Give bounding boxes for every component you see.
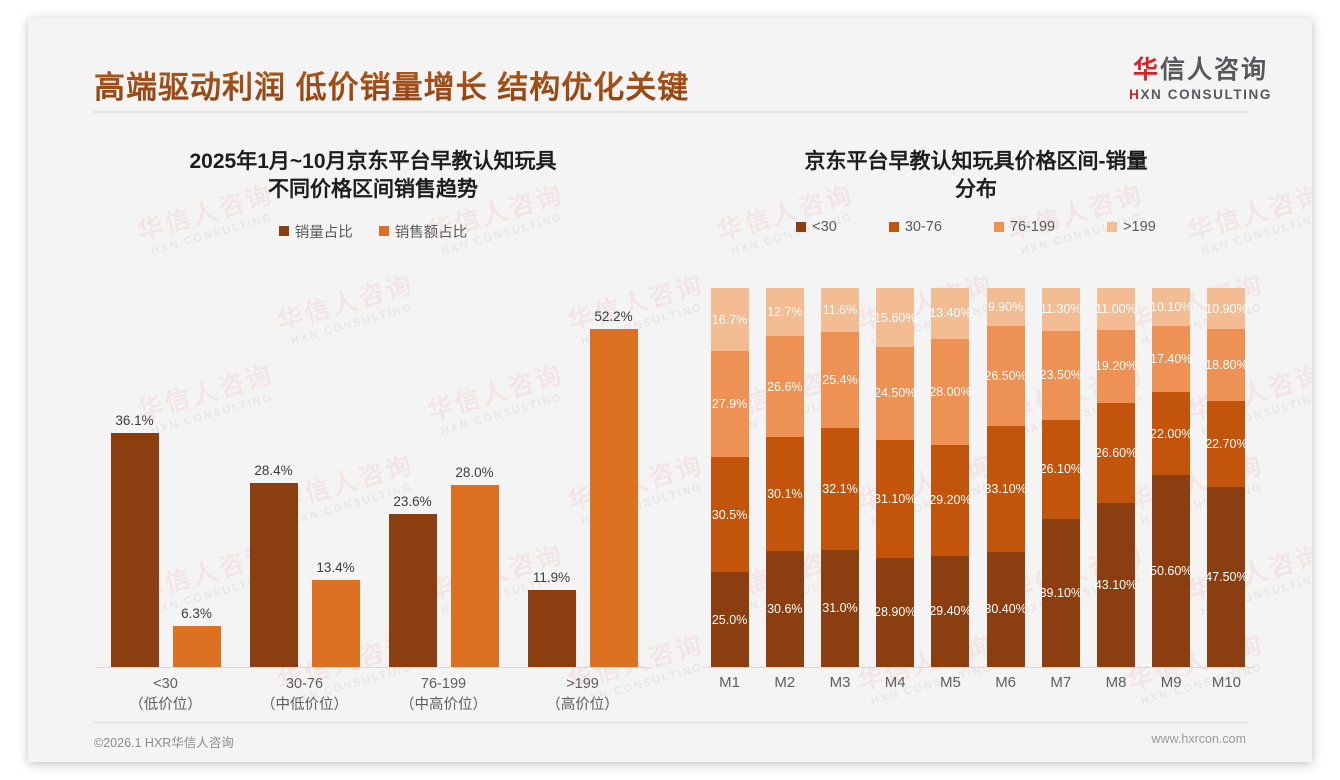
- chart-panel-sales-trend: 2025年1月~10月京东平台早教认知玩具 不同价格区间销售趋势 销量占比销售额…: [68, 126, 678, 704]
- stacked-bar[interactable]: 16.7%27.9%30.5%25.0%: [711, 288, 749, 667]
- chart-legend-volume-distribution: <3030-7676-199>199: [680, 219, 1272, 235]
- logo-chinese-first-char: 华: [1133, 56, 1160, 84]
- stack-segment-label: 9.90%: [988, 300, 1023, 314]
- plot-area-sales-trend: 36.1%6.3%28.4%13.4%23.6%28.0%11.9%52.2%: [96, 278, 652, 668]
- stack-segment[interactable]: 39.10%: [1042, 519, 1080, 667]
- page-title: 高端驱动利润 低价销量增长 结构优化关键: [94, 62, 689, 107]
- stacked-bar[interactable]: 15.60%24.50%31.10%28.90%: [876, 288, 914, 667]
- chart-title-line2: 不同价格区间销售趋势: [94, 176, 652, 204]
- x-axis-line-right: [702, 667, 1254, 668]
- stack-column: 12.7%26.6%30.1%30.6%: [757, 288, 812, 667]
- stack-segment-label: 26.60%: [1095, 446, 1137, 460]
- legend-item-1[interactable]: 30-76: [889, 219, 942, 235]
- stack-segment-label: 23.50%: [1040, 368, 1082, 382]
- legend-swatch-icon: [994, 222, 1004, 232]
- stack-segment-label: 26.6%: [767, 380, 802, 394]
- stack-segment-label: 29.40%: [929, 604, 971, 618]
- stack-segment[interactable]: 30.40%: [987, 552, 1025, 667]
- x-axis-label: >199（高价位）: [513, 674, 652, 716]
- header-divider: [94, 111, 1249, 113]
- x-axis-label-sub: （低价位）: [96, 695, 235, 716]
- x-axis-label: M4: [868, 674, 923, 691]
- stack-segment-label: 11.00%: [1095, 302, 1136, 316]
- chart-legend-sales-trend: 销量占比销售额占比: [68, 221, 678, 242]
- x-axis-label: 30-76（中低价位）: [235, 674, 374, 716]
- stack-segment[interactable]: 11.00%: [1097, 288, 1135, 330]
- x-axis-labels-sales-trend: <30（低价位）30-76（中低价位）76-199（中高价位）>199（高价位）: [96, 674, 652, 716]
- bar-value-label: 11.9%: [533, 570, 570, 585]
- company-logo: 华信人咨询 HXN CONSULTING: [1129, 58, 1272, 102]
- bar-rect[interactable]: [250, 483, 298, 667]
- stack-segment-label: 17.40%: [1150, 352, 1192, 366]
- bar-rect[interactable]: [111, 433, 159, 667]
- stack-segment-label: 31.0%: [822, 601, 857, 615]
- logo-english-text: HXN CONSULTING: [1129, 88, 1272, 102]
- bar-rect[interactable]: [451, 485, 499, 667]
- bar-item[interactable]: 11.9%: [528, 278, 576, 667]
- stack-column: 10.90%18.80%22.70%47.50%: [1199, 288, 1254, 667]
- bar-rect[interactable]: [173, 626, 221, 667]
- stack-segment-label: 25.4%: [822, 373, 857, 387]
- chart-title-line1: 2025年1月~10月京东平台早教认知玩具: [94, 148, 652, 176]
- stack-segment-label: 18.80%: [1205, 358, 1247, 372]
- x-axis-label-sub: （高价位）: [513, 695, 652, 716]
- x-axis-label: M3: [812, 674, 867, 691]
- stack-segment[interactable]: 22.00%: [1152, 392, 1190, 475]
- stack-segment[interactable]: 16.7%: [711, 288, 749, 351]
- x-axis-label: M5: [923, 674, 978, 691]
- footer-website: www.hxrcon.com: [1152, 732, 1246, 746]
- stack-segment[interactable]: 9.90%: [987, 288, 1025, 326]
- stack-segment[interactable]: 29.20%: [931, 445, 969, 556]
- stack-segment[interactable]: 32.1%: [821, 428, 859, 550]
- stack-segment[interactable]: 25.4%: [821, 332, 859, 428]
- stack-segment[interactable]: 22.70%: [1207, 401, 1245, 487]
- bar-value-label: 28.4%: [254, 463, 292, 478]
- stacked-bar[interactable]: 11.30%23.50%26.10%39.10%: [1042, 288, 1080, 667]
- x-axis-label-main: 76-199: [374, 674, 513, 695]
- bar-item[interactable]: 28.0%: [451, 278, 499, 667]
- bar-group: 11.9%52.2%: [513, 278, 652, 667]
- stack-segment-label: 13.40%: [929, 306, 971, 320]
- stack-segment[interactable]: 24.50%: [876, 347, 914, 440]
- stacked-bar[interactable]: 11.6%25.4%32.1%31.0%: [821, 288, 859, 667]
- stack-segment[interactable]: 12.7%: [766, 288, 804, 336]
- stack-column: 15.60%24.50%31.10%28.90%: [868, 288, 923, 667]
- legend-label: 30-76: [905, 219, 942, 235]
- stack-segment-label: 16.7%: [712, 313, 747, 327]
- stack-segment[interactable]: 10.10%: [1152, 288, 1190, 326]
- bar-item[interactable]: 28.4%: [250, 278, 298, 667]
- legend-swatch-icon: [279, 226, 289, 236]
- stack-segment[interactable]: 25.0%: [711, 572, 749, 667]
- legend-label: 76-199: [1010, 219, 1055, 235]
- stack-segment-label: 22.00%: [1150, 427, 1192, 441]
- stack-segment-label: 19.20%: [1095, 359, 1137, 373]
- stack-segment-label: 30.5%: [712, 508, 747, 522]
- x-axis-label: M6: [978, 674, 1033, 691]
- stack-segment[interactable]: 17.40%: [1152, 326, 1190, 392]
- slide-canvas: 高端驱动利润 低价销量增长 结构优化关键 华信人咨询 HXN CONSULTIN…: [0, 0, 1340, 780]
- bar-rect[interactable]: [389, 514, 437, 667]
- stack-segment[interactable]: 15.60%: [876, 288, 914, 347]
- x-axis-label: M8: [1088, 674, 1143, 691]
- stack-segment-label: 30.6%: [767, 602, 802, 616]
- stack-segment-label: 10.90%: [1205, 302, 1247, 316]
- stack-segment-label: 28.00%: [929, 385, 971, 399]
- x-axis-labels-volume-distribution: M1M2M3M4M5M6M7M8M9M10: [702, 674, 1254, 691]
- stack-segment-label: 10.10%: [1150, 300, 1192, 314]
- stack-segment-label: 33.10%: [984, 482, 1026, 496]
- legend-item-1[interactable]: 销售额占比: [379, 221, 468, 242]
- bar-rect[interactable]: [528, 590, 576, 667]
- slide-page: 高端驱动利润 低价销量增长 结构优化关键 华信人咨询 HXN CONSULTIN…: [28, 18, 1312, 762]
- stack-segment[interactable]: 26.10%: [1042, 420, 1080, 519]
- stack-segment[interactable]: 26.50%: [987, 326, 1025, 427]
- stack-segment[interactable]: 31.10%: [876, 440, 914, 558]
- stack-segment[interactable]: 31.0%: [821, 550, 859, 667]
- x-axis-label: M2: [757, 674, 812, 691]
- bar-value-label: 52.2%: [594, 309, 632, 324]
- bar-item[interactable]: 52.2%: [590, 278, 638, 667]
- stack-segment-label: 24.50%: [874, 386, 916, 400]
- legend-swatch-icon: [1107, 222, 1117, 232]
- stack-column: 11.30%23.50%26.10%39.10%: [1033, 288, 1088, 667]
- x-axis-label-main: <30: [96, 674, 235, 695]
- x-axis-label: M10: [1199, 674, 1254, 691]
- x-axis-label-main: 30-76: [235, 674, 374, 695]
- chart-title-sales-trend: 2025年1月~10月京东平台早教认知玩具 不同价格区间销售趋势: [94, 148, 652, 205]
- stack-column: 16.7%27.9%30.5%25.0%: [702, 288, 757, 667]
- chart-panel-volume-distribution: 京东平台早教认知玩具价格区间-销量 分布 <3030-7676-199>199 …: [680, 126, 1272, 704]
- stack-column: 11.6%25.4%32.1%31.0%: [812, 288, 867, 667]
- x-axis-label-main: >199: [513, 674, 652, 695]
- legend-item-0[interactable]: 销量占比: [279, 221, 353, 242]
- legend-item-2[interactable]: 76-199: [994, 219, 1055, 235]
- bar-value-label: 36.1%: [115, 413, 153, 428]
- stack-segment[interactable]: 10.90%: [1207, 288, 1245, 329]
- stack-segment[interactable]: 29.40%: [931, 556, 969, 667]
- stack-segment-label: 39.10%: [1040, 586, 1082, 600]
- x-axis-label: M7: [1033, 674, 1088, 691]
- stack-segment-label: 26.50%: [984, 369, 1026, 383]
- stack-segment-label: 30.1%: [767, 487, 802, 501]
- stack-segment-label: 11.6%: [823, 303, 858, 317]
- stack-segment-label: 47.50%: [1205, 570, 1247, 584]
- stacked-bar[interactable]: 10.90%18.80%22.70%47.50%: [1207, 288, 1245, 667]
- bar-item[interactable]: 36.1%: [111, 278, 159, 667]
- x-axis-label-sub: （中高价位）: [374, 695, 513, 716]
- logo-chinese-rest: 信人咨询: [1160, 56, 1268, 84]
- logo-english-first-char: H: [1129, 87, 1140, 102]
- stack-segment-label: 15.60%: [874, 311, 916, 325]
- footer-divider: [94, 722, 1249, 723]
- stack-segment-label: 26.10%: [1040, 462, 1082, 476]
- stack-segment[interactable]: 18.80%: [1207, 329, 1245, 400]
- legend-swatch-icon: [796, 222, 806, 232]
- stack-segment[interactable]: 28.00%: [931, 339, 969, 445]
- stack-segment-label: 50.60%: [1150, 564, 1192, 578]
- logo-chinese-text: 华信人咨询: [1129, 58, 1272, 83]
- x-axis-label-sub: （中低价位）: [235, 695, 374, 716]
- x-axis-label: M1: [702, 674, 757, 691]
- legend-item-3[interactable]: >199: [1107, 219, 1156, 235]
- stacked-bar[interactable]: 10.10%17.40%22.00%50.60%: [1152, 288, 1190, 667]
- stack-segment[interactable]: 43.10%: [1097, 503, 1135, 667]
- stacked-bar[interactable]: 13.40%28.00%29.20%29.40%: [931, 288, 969, 667]
- stack-column: 10.10%17.40%22.00%50.60%: [1144, 288, 1199, 667]
- stack-segment[interactable]: 26.60%: [1097, 403, 1135, 504]
- stack-segment[interactable]: 11.6%: [821, 288, 859, 332]
- stack-segment-label: 12.7%: [767, 305, 802, 319]
- bar-value-label: 28.0%: [455, 465, 493, 480]
- x-axis-label: <30（低价位）: [96, 674, 235, 716]
- stack-segment[interactable]: 13.40%: [931, 288, 969, 339]
- stack-segment-label: 27.9%: [712, 397, 747, 411]
- stack-segment[interactable]: 23.50%: [1042, 331, 1080, 420]
- legend-label: 销量占比: [295, 221, 353, 242]
- stacked-bar[interactable]: 9.90%26.50%33.10%30.40%: [987, 288, 1025, 667]
- stack-segment-label: 25.0%: [712, 613, 747, 627]
- bar-value-label: 23.6%: [393, 494, 431, 509]
- legend-swatch-icon: [889, 222, 899, 232]
- stack-segment-label: 31.10%: [874, 492, 916, 506]
- legend-label: >199: [1123, 219, 1156, 235]
- stacked-bar[interactable]: 12.7%26.6%30.1%30.6%: [766, 288, 804, 667]
- bar-item[interactable]: 23.6%: [389, 278, 437, 667]
- legend-swatch-icon: [379, 226, 389, 236]
- stack-segment[interactable]: 47.50%: [1207, 487, 1245, 667]
- logo-english-rest: XN CONSULTING: [1140, 87, 1272, 102]
- stack-segment-label: 30.40%: [984, 602, 1026, 616]
- bar-group: 36.1%6.3%: [96, 278, 235, 667]
- stack-segment-label: 11.30%: [1040, 302, 1081, 316]
- plot-area-volume-distribution: 16.7%27.9%30.5%25.0%12.7%26.6%30.1%30.6%…: [702, 288, 1254, 668]
- footer-copyright: ©2026.1 HXR华信人咨询: [94, 732, 234, 751]
- stack-segment[interactable]: 30.1%: [766, 437, 804, 551]
- stacked-bar[interactable]: 11.00%19.20%26.60%43.10%: [1097, 288, 1135, 667]
- stack-segment[interactable]: 50.60%: [1152, 475, 1190, 667]
- stack-column: 13.40%28.00%29.20%29.40%: [923, 288, 978, 667]
- slide-header: 高端驱动利润 低价销量增长 结构优化关键 华信人咨询 HXN CONSULTIN…: [28, 18, 1312, 118]
- bar-group: 28.4%13.4%: [235, 278, 374, 667]
- legend-label: <30: [812, 219, 837, 235]
- bar-value-label: 13.4%: [316, 560, 354, 575]
- x-axis-line-left: [96, 667, 652, 668]
- stack-segment-label: 28.90%: [874, 605, 916, 619]
- stack-segment[interactable]: 11.30%: [1042, 288, 1080, 331]
- stack-segment-label: 32.1%: [822, 482, 857, 496]
- stack-segment[interactable]: 28.90%: [876, 558, 914, 667]
- stack-segment[interactable]: 33.10%: [987, 426, 1025, 552]
- stack-segment[interactable]: 30.5%: [711, 457, 749, 572]
- legend-label: 销售额占比: [395, 221, 468, 242]
- bar-group: 23.6%28.0%: [374, 278, 513, 667]
- stack-segment-label: 22.70%: [1205, 437, 1247, 451]
- stack-segment[interactable]: 26.6%: [766, 336, 804, 437]
- stack-segment[interactable]: 19.20%: [1097, 330, 1135, 403]
- x-axis-label: 76-199（中高价位）: [374, 674, 513, 716]
- bar-rect[interactable]: [312, 580, 360, 667]
- legend-item-0[interactable]: <30: [796, 219, 837, 235]
- stack-segment[interactable]: 27.9%: [711, 351, 749, 457]
- stack-segment[interactable]: 30.6%: [766, 551, 804, 667]
- chart-title-volume-distribution: 京东平台早教认知玩具价格区间-销量 分布: [706, 148, 1246, 205]
- x-axis-label: M9: [1144, 674, 1199, 691]
- chart-title-line1: 京东平台早教认知玩具价格区间-销量: [706, 148, 1246, 176]
- bar-item[interactable]: 6.3%: [173, 278, 221, 667]
- stack-column: 9.90%26.50%33.10%30.40%: [978, 288, 1033, 667]
- chart-title-line2: 分布: [706, 176, 1246, 204]
- stack-column: 11.00%19.20%26.60%43.10%: [1088, 288, 1143, 667]
- bar-item[interactable]: 13.4%: [312, 278, 360, 667]
- bar-rect[interactable]: [590, 329, 638, 667]
- stack-segment-label: 43.10%: [1095, 578, 1137, 592]
- bar-value-label: 6.3%: [181, 606, 212, 621]
- stack-segment-label: 29.20%: [929, 493, 971, 507]
